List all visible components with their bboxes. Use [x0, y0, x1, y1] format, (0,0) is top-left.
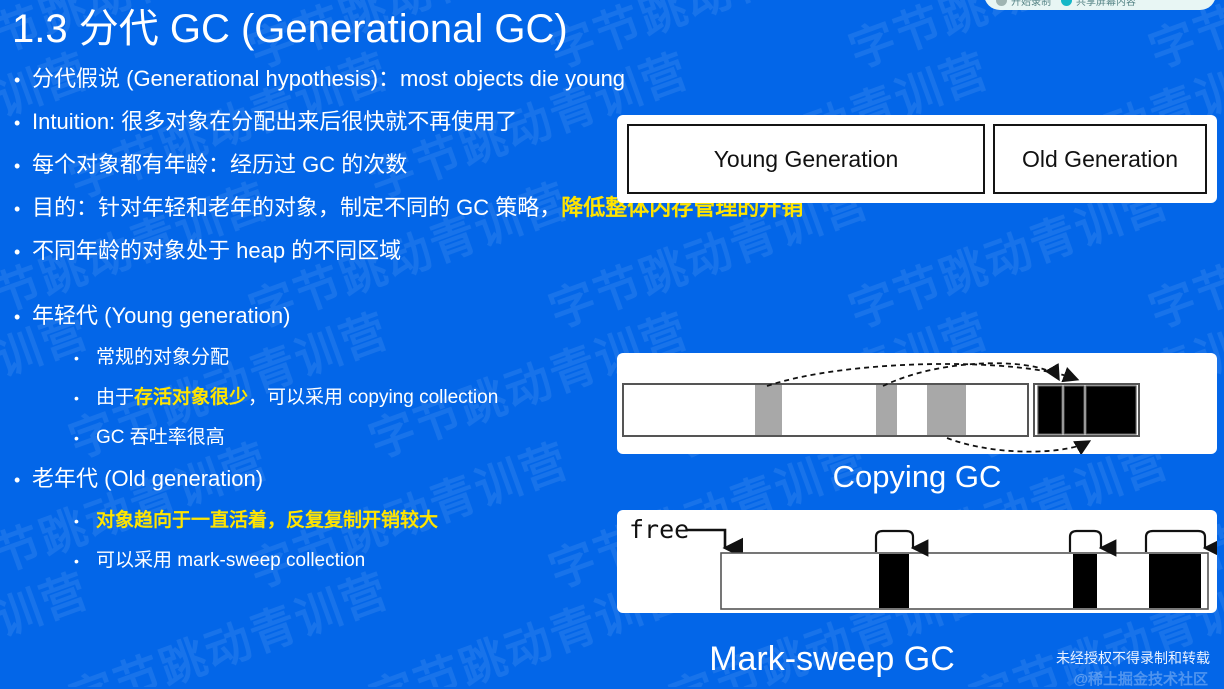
bullet-text: 年轻代 (Young generation) — [32, 295, 625, 337]
sweep-hop-arrow — [876, 531, 913, 552]
bullet-item: •不同年龄的对象处于 heap 的不同区域 — [0, 230, 625, 273]
bullet-marker-icon: • — [14, 296, 32, 338]
watermark-text: 字节跳动青训营 — [1139, 0, 1224, 81]
bullet-marker-icon: • — [74, 542, 96, 581]
bullet-marker-icon: • — [74, 502, 96, 541]
bullet-marker-icon: • — [14, 459, 32, 501]
allocated-object-block — [1073, 554, 1097, 608]
bullet-marker-icon: • — [14, 145, 32, 187]
copied-object-block — [1064, 386, 1084, 434]
bullet-item: •分代假说 (Generational hypothesis)：most obj… — [0, 58, 625, 101]
copied-object-block — [1038, 386, 1062, 434]
copied-object-block — [1086, 386, 1136, 434]
plain-text: 老年代 (Old generation) — [32, 466, 263, 491]
highlighted-text: 对象趋向于一直活着，反复复制开销较大 — [96, 510, 438, 531]
plain-text: 分代假说 (Generational hypothesis)：most obje… — [32, 66, 625, 91]
bullet-list: •分代假说 (Generational hypothesis)：most obj… — [0, 58, 625, 581]
bullet-text: 对象趋向于一直活着，反复复制开销较大 — [96, 501, 625, 540]
live-object-block — [876, 385, 897, 435]
live-object-block — [927, 385, 966, 435]
plain-text: 每个对象都有年龄：经历过 GC 的次数 — [32, 152, 407, 177]
old-generation-box: Old Generation — [993, 124, 1207, 194]
toolbar-item-share[interactable]: 共享屏幕内容 — [1061, 0, 1136, 8]
bullet-text: Intuition: 很多对象在分配出来后很快就不再使用了 — [32, 101, 625, 143]
plain-text: 不同年龄的对象处于 heap 的不同区域 — [32, 238, 401, 263]
plain-text: GC 吞吐率很高 — [96, 427, 225, 448]
highlighted-text: 存活对象很少 — [134, 387, 248, 408]
bullet-text: 每个对象都有年龄：经历过 GC 的次数 — [32, 144, 625, 186]
bullet-item: •目的：针对年轻和老年的对象，制定不同的 GC 策略，降低整体内存管理的开销 — [0, 187, 625, 230]
sub-bullet-item: •由于存活对象很少，可以采用 copying collection — [0, 378, 625, 418]
toolbar-item-record[interactable]: 开始录制 — [996, 0, 1051, 8]
slide-title: 1.3 分代 GC (Generational GC) — [12, 0, 568, 54]
bullet-marker-icon: • — [14, 231, 32, 273]
bullet-marker-icon: • — [14, 59, 32, 101]
recording-toolbar[interactable]: 开始录制 共享屏幕内容 — [984, 0, 1216, 10]
bullet-item: •老年代 (Old generation) — [0, 458, 625, 501]
sub-bullet-item: •对象趋向于一直活着，反复复制开销较大 — [0, 501, 625, 541]
plain-text: ，可以采用 copying collection — [248, 387, 498, 408]
sweep-hop-arrow — [1146, 531, 1205, 552]
sub-bullet-item: •常规的对象分配 — [0, 338, 625, 378]
bullet-text: 常规的对象分配 — [96, 338, 625, 377]
mark-sweep-gc-svg: free — [617, 510, 1217, 613]
free-label: free — [629, 515, 689, 544]
bullet-marker-icon: • — [74, 339, 96, 378]
toolbar-share-label: 共享屏幕内容 — [1076, 0, 1136, 8]
plain-text: 年轻代 (Young generation) — [32, 303, 290, 328]
bullet-text: 老年代 (Old generation) — [32, 458, 625, 500]
young-generation-box: Young Generation — [627, 124, 985, 194]
bullet-text: 可以采用 mark-sweep collection — [96, 541, 625, 580]
bullet-marker-icon: • — [14, 188, 32, 230]
bullet-marker-icon: • — [14, 102, 32, 144]
bullet-marker-icon: • — [74, 379, 96, 418]
copying-gc-caption: Copying GC — [617, 459, 1217, 495]
list-spacer — [0, 273, 625, 295]
allocated-object-block — [1149, 554, 1201, 608]
live-object-block — [755, 385, 782, 435]
copying-gc-svg — [617, 353, 1217, 454]
share-screen-icon — [1061, 0, 1072, 6]
bullet-item: •Intuition: 很多对象在分配出来后很快就不再使用了 — [0, 101, 625, 144]
sub-bullet-item: •GC 吞吐率很高 — [0, 418, 625, 458]
plain-text: 可以采用 mark-sweep collection — [96, 550, 365, 571]
bullet-text: 分代假说 (Generational hypothesis)：most obje… — [32, 58, 625, 100]
plain-text: 常规的对象分配 — [96, 347, 229, 368]
bullet-text: GC 吞吐率很高 — [96, 418, 625, 457]
mark-sweep-gc-caption: Mark-sweep GC — [617, 640, 1047, 679]
bullet-text: 由于存活对象很少，可以采用 copying collection — [96, 378, 625, 417]
record-icon — [996, 0, 1007, 6]
allocated-object-block — [879, 554, 909, 608]
plain-text: Intuition: 很多对象在分配出来后很快就不再使用了 — [32, 109, 517, 134]
mark-sweep-diagram-panel: free — [617, 510, 1217, 613]
watermark-text: 字节跳动青训营 — [839, 0, 1177, 81]
community-handle: @稀土掘金技术社区 — [1073, 668, 1208, 689]
plain-text: 由于 — [96, 387, 134, 408]
generation-diagram-panel: Young Generation Old Generation — [617, 115, 1217, 203]
copying-gc-diagram-panel — [617, 353, 1217, 454]
bullet-marker-icon: • — [74, 419, 96, 458]
bullet-item: •每个对象都有年龄：经历过 GC 的次数 — [0, 144, 625, 187]
plain-text: 目的：针对年轻和老年的对象，制定不同的 GC 策略， — [32, 195, 561, 220]
sweep-hop-arrow — [1070, 531, 1101, 552]
sub-bullet-item: •可以采用 mark-sweep collection — [0, 541, 625, 581]
toolbar-record-label: 开始录制 — [1011, 0, 1051, 8]
bullet-text: 不同年龄的对象处于 heap 的不同区域 — [32, 230, 625, 272]
bullet-item: •年轻代 (Young generation) — [0, 295, 625, 338]
copyright-notice: 未经授权不得录制和转载 — [1056, 648, 1210, 668]
